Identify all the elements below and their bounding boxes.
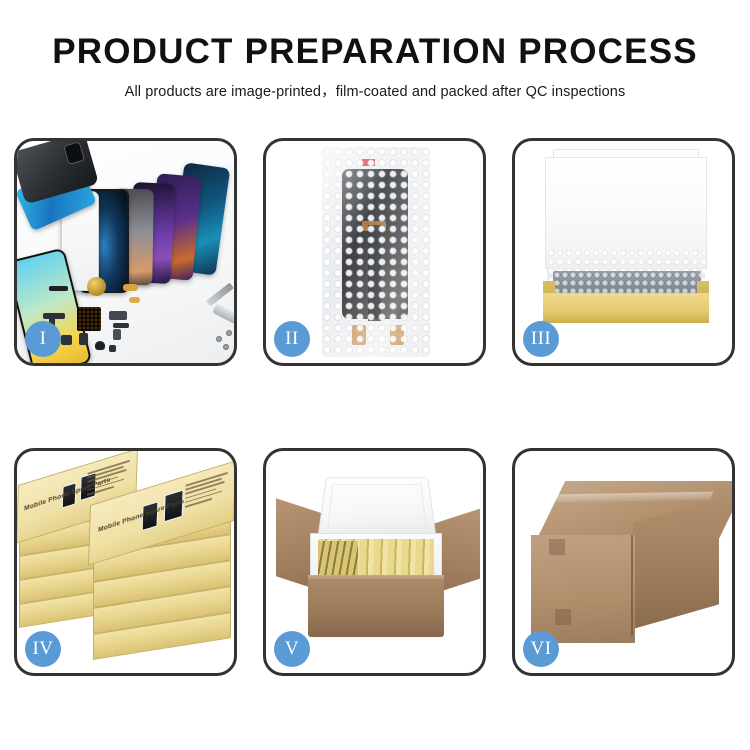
- screw-icon: [217, 337, 221, 341]
- plastic-sheen: [322, 147, 430, 357]
- step-badge-3: III: [523, 321, 559, 357]
- step-badge-6: VI: [523, 631, 559, 667]
- carton-hand-hole: [555, 609, 571, 625]
- screw-icon: [224, 345, 228, 349]
- spare-part-icon: [79, 333, 88, 345]
- page-header: PRODUCT PREPARATION PROCESS All products…: [0, 30, 750, 101]
- process-steps-grid: I II: [14, 138, 736, 676]
- spare-part-icon: [113, 323, 129, 328]
- spare-part-icon: [129, 297, 140, 303]
- spare-part-icon: [61, 335, 72, 345]
- spare-part-icon: [95, 341, 105, 350]
- bubble-wrap-package: [322, 147, 430, 357]
- spare-part-icon: [109, 345, 116, 352]
- foam-lid: [318, 477, 437, 537]
- carton-front-face: [531, 535, 635, 643]
- spare-part-icon: [123, 284, 138, 291]
- step-badge-1: I: [25, 321, 61, 357]
- process-step-panel-5[interactable]: V: [263, 448, 486, 676]
- carton-front-wall: [308, 579, 444, 637]
- process-step-panel-4[interactable]: Mobile Phone Spare Parts Mobile Phone Sp…: [14, 448, 237, 676]
- carton-hand-hole: [549, 539, 565, 555]
- step-badge-4: IV: [25, 631, 61, 667]
- page-title: PRODUCT PREPARATION PROCESS: [0, 30, 750, 74]
- chip-grid-icon: [77, 307, 101, 331]
- process-step-panel-3[interactable]: III: [512, 138, 735, 366]
- carton-vertical-edge: [631, 535, 633, 635]
- page-subtitle: All products are image-printed，film-coat…: [0, 80, 750, 101]
- copper-coil-icon: [87, 277, 106, 296]
- spare-part-icon: [49, 286, 68, 291]
- printed-spec-lines: [185, 472, 228, 510]
- screw-icon: [227, 331, 231, 335]
- process-step-panel-2[interactable]: II: [263, 138, 486, 366]
- product-preparation-process-page: PRODUCT PREPARATION PROCESS All products…: [0, 0, 750, 750]
- step-badge-5: V: [274, 631, 310, 667]
- step-badge-2: II: [274, 321, 310, 357]
- packed-yellow-boxes: [318, 541, 358, 575]
- process-step-panel-1[interactable]: I: [14, 138, 237, 366]
- spare-part-icon: [113, 329, 121, 340]
- spare-part-icon: [109, 311, 127, 320]
- box-tray-front-wall: [543, 293, 709, 323]
- process-step-panel-6[interactable]: VI: [512, 448, 735, 676]
